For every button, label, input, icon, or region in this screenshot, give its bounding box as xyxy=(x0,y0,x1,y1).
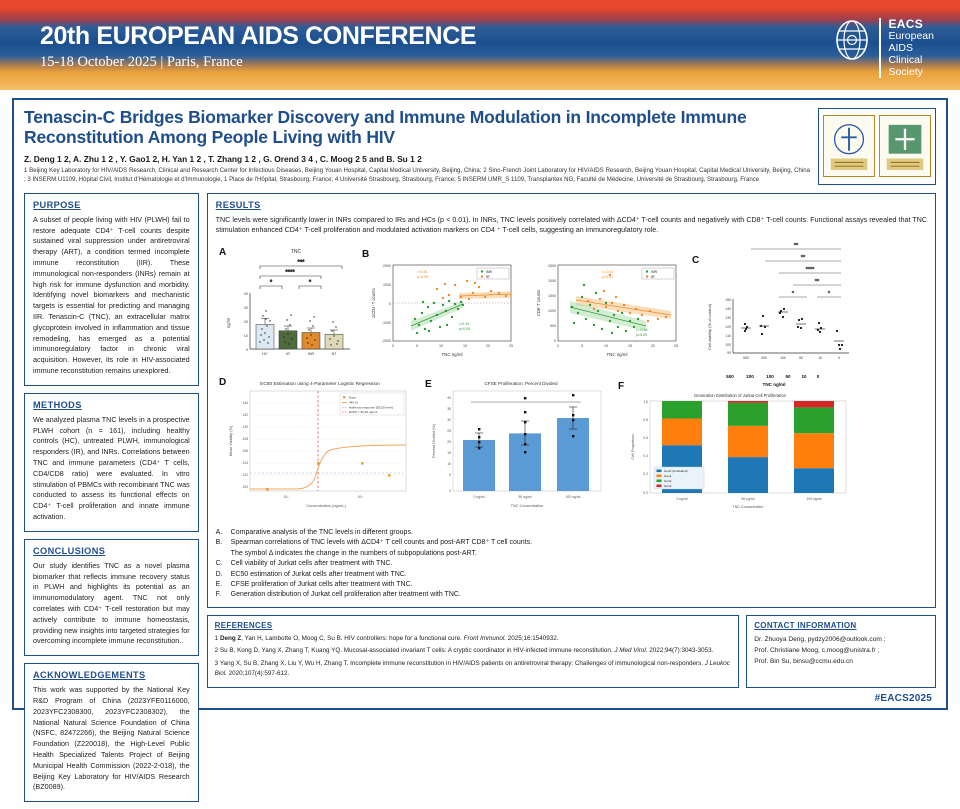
panel-f-bar-100 xyxy=(794,401,834,493)
svg-text:20: 20 xyxy=(243,320,247,324)
panel-c-xticks: 500 200 100 50 10 0 xyxy=(743,356,840,360)
svg-text:124: 124 xyxy=(242,461,248,465)
panel-f-legend: Gen0 (Undivided) Gen1 Gen2 Gen3 xyxy=(654,467,704,489)
svg-text:140: 140 xyxy=(725,307,731,311)
methods-section: METHODS We analyzed plasma TNC levels in… xyxy=(24,393,199,532)
conference-dates-location: 15-18 October 2025 | Paris, France xyxy=(40,54,243,71)
svg-text:110: 110 xyxy=(725,334,731,338)
panel-b-chart: B 20001000 0-1000 -2000 xyxy=(359,241,521,366)
svg-text:20: 20 xyxy=(447,440,451,444)
svg-text:5: 5 xyxy=(416,344,418,348)
figure-caption: A. Comparative analysis of the TNC level… xyxy=(216,528,927,601)
svg-text:EC50 = 46.23 ng/mL: EC50 = 46.23 ng/mL xyxy=(349,410,378,414)
svg-text:p<0.05: p<0.05 xyxy=(459,327,470,331)
svg-text:0 ng/ml: 0 ng/ml xyxy=(473,495,484,499)
panel-d-label: D xyxy=(219,377,226,388)
svg-text:Data: Data xyxy=(349,396,356,400)
acknowledgements-heading: ACKNOWLEDGEMENTS xyxy=(33,670,190,680)
svg-text:1.0: 1.0 xyxy=(643,400,648,404)
panel-f-xticks: 0 ng/ml 50 ng/ml 100 ng/ml xyxy=(676,497,821,501)
svg-text:**: ** xyxy=(815,279,820,285)
results-section: RESULTS TNC levels were significantly lo… xyxy=(207,193,936,608)
svg-text:20: 20 xyxy=(486,344,490,348)
panel-c-significance: ** ** **** ** * xyxy=(751,243,841,297)
panel-f-bar-50 xyxy=(728,401,768,493)
svg-text:50 ng/ml: 50 ng/ml xyxy=(518,495,531,499)
svg-text:2500: 2500 xyxy=(548,264,556,268)
svg-text:Gen1: Gen1 xyxy=(664,474,672,478)
panel-b: B 20001000 0-1000 -2000 xyxy=(359,241,521,371)
svg-text:0: 0 xyxy=(392,344,394,348)
panel-a-title: TNC xyxy=(291,249,302,255)
svg-text:-2000: -2000 xyxy=(381,339,390,343)
svg-text:10: 10 xyxy=(447,462,451,466)
svg-text:40: 40 xyxy=(447,396,451,400)
panel-b-xlabel: TNC ng/ml xyxy=(441,352,462,357)
contact-section: CONTACT INFORMATION Dr. Zhuoya Deng, pyd… xyxy=(746,615,936,688)
contact-line-3[interactable]: Prof. Bin Su, binsu@ccmu.edu.cn xyxy=(754,656,928,667)
svg-text:-1000: -1000 xyxy=(381,321,390,325)
institution-logos xyxy=(818,108,936,185)
svg-text:4PL fit: 4PL fit xyxy=(349,401,358,405)
eacs-word-society: Society xyxy=(888,67,934,79)
svg-text:0: 0 xyxy=(246,348,248,352)
svg-text:134: 134 xyxy=(242,401,248,405)
panel-c-means xyxy=(741,312,844,341)
poster-columns: PURPOSE A subset of people living with H… xyxy=(24,193,936,809)
methods-heading: METHODS xyxy=(33,400,190,410)
capital-medical-university-logo-icon xyxy=(823,115,875,177)
svg-text:Gen3: Gen3 xyxy=(664,484,672,488)
acknowledgements-text: This work was supported by the National … xyxy=(33,685,190,793)
eacs-word-clinical: Clinical xyxy=(888,55,934,67)
figure-row-bottom: D EC50 Estimation using 4-Parameter Logi… xyxy=(216,371,927,524)
svg-text:10: 10 xyxy=(604,344,608,348)
svg-text:500: 500 xyxy=(743,356,749,360)
poster-header: Tenascin-C Bridges Biomarker Discovery a… xyxy=(24,108,936,185)
conference-hashtag: #EACS2025 xyxy=(875,693,932,704)
panel-e-xticks: 0 ng/ml 50 ng/ml 100 ng/ml xyxy=(473,495,580,499)
panel-d-yticks: 134132 130128 126124 122120 xyxy=(242,401,248,489)
svg-text:120: 120 xyxy=(725,325,731,329)
panel-e-chart: E CFSE Proliferation: Percent Divided 40… xyxy=(417,371,607,519)
svg-text:10: 10 xyxy=(801,374,807,379)
panel-c-label: C xyxy=(692,255,699,266)
svg-text:50: 50 xyxy=(785,374,791,379)
poster-title: Tenascin-C Bridges Biomarker Discovery a… xyxy=(24,108,810,147)
panel-e-xlabel: TNC Concentration xyxy=(510,504,543,508)
right-column: RESULTS TNC levels were significantly lo… xyxy=(207,193,936,809)
references-heading: REFERENCES xyxy=(215,621,732,630)
panel-f-chart: F 500200100 50100 TNC ng/ml Generation D… xyxy=(610,371,860,519)
panel-a-xticks: HCIR INRNT xyxy=(262,352,337,356)
svg-text:0.6: 0.6 xyxy=(643,436,648,440)
svg-text:****: **** xyxy=(285,270,295,276)
panel-f: F 500200100 50100 TNC ng/ml Generation D… xyxy=(610,371,860,524)
svg-text:25: 25 xyxy=(447,429,451,433)
caption-item: D. EC50 estimation of Jurkat cells after… xyxy=(216,570,927,580)
svg-text:126: 126 xyxy=(242,449,248,453)
svg-text:p=0.59: p=0.59 xyxy=(417,275,428,279)
caption-item: The symbol Δ indicates the change in the… xyxy=(216,549,927,559)
svg-text:Gen0 (Undivided): Gen0 (Undivided) xyxy=(664,469,688,473)
svg-text:132: 132 xyxy=(242,413,248,417)
panel-f-ylabel: Cell Proportion xyxy=(631,435,635,460)
panel-d-chart: D EC50 Estimation using 4-Parameter Logi… xyxy=(216,371,414,519)
eacs-acronym: EACS xyxy=(888,18,934,31)
panel-e-label: E xyxy=(425,379,432,390)
svg-text:*: * xyxy=(309,280,312,286)
panel-e-title: CFSE Proliferation: Percent Divided xyxy=(484,381,557,386)
svg-text:500: 500 xyxy=(726,374,734,379)
figure-grid: A TNC *** **** * xyxy=(216,241,927,524)
reference-item-2: 2 Su B, Kong D, Yang X, Zhang T, Kuang Y… xyxy=(215,646,732,656)
panel-d-legend: Data 4PL fit Half-max response (EC50 lev… xyxy=(340,393,404,415)
svg-text:10²: 10² xyxy=(357,495,363,499)
contact-heading: CONTACT INFORMATION xyxy=(754,621,928,630)
svg-text:*: * xyxy=(792,291,795,297)
svg-text:0.4: 0.4 xyxy=(643,454,648,458)
svg-text:INR: INR xyxy=(308,352,315,356)
svg-text:0: 0 xyxy=(816,374,819,379)
panel-f-xlabel: TNC Concentration xyxy=(732,505,763,509)
panel-e: E CFSE Proliferation: Percent Divided 40… xyxy=(417,371,607,524)
conference-title: 20th EUROPEAN AIDS CONFERENCE xyxy=(40,22,476,51)
panel-f-yticks: 1.00.8 0.60.4 0.20.0 xyxy=(643,400,648,495)
purpose-heading: PURPOSE xyxy=(33,200,190,210)
svg-text:1500: 1500 xyxy=(548,294,556,298)
panel-b2-xticks: 0510 152025 xyxy=(557,344,678,348)
purpose-section: PURPOSE A subset of people living with H… xyxy=(24,193,199,386)
svg-text:25: 25 xyxy=(509,344,513,348)
panel-a-chart: A TNC *** **** * xyxy=(216,241,356,366)
svg-text:100: 100 xyxy=(780,356,786,360)
svg-text:130: 130 xyxy=(725,316,731,320)
svg-text:0: 0 xyxy=(554,339,556,343)
panel-b-cd8: 25002000 15001000 5000 0510 152025 TNC n… xyxy=(524,241,686,371)
svg-text:30: 30 xyxy=(243,306,247,310)
svg-text:15: 15 xyxy=(628,344,632,348)
panel-f-top-labels: 500200100 50100 TNC ng/ml xyxy=(726,374,820,387)
svg-text:0.8: 0.8 xyxy=(643,418,648,422)
svg-text:128: 128 xyxy=(242,437,248,441)
svg-text:120: 120 xyxy=(242,485,248,489)
panel-b2-legend: INR IR xyxy=(642,268,674,279)
panel-b2-chart: 25002000 15001000 5000 0510 152025 TNC n… xyxy=(524,241,686,366)
svg-text:r=-0.34: r=-0.34 xyxy=(636,328,648,332)
svg-text:0: 0 xyxy=(449,489,451,493)
svg-text:50 ng/ml: 50 ng/ml xyxy=(741,497,754,501)
svg-text:122: 122 xyxy=(242,473,248,477)
poster-body: Tenascin-C Bridges Biomarker Discovery a… xyxy=(12,98,948,710)
panel-d-ylabel: Mean Viability (%) xyxy=(229,425,233,456)
svg-text:NT: NT xyxy=(331,352,337,356)
reference-item-1: 1 Deng Z, Yan H, Lambotte O, Moog C, Su … xyxy=(215,634,732,644)
svg-text:1000: 1000 xyxy=(383,283,391,287)
svg-text:90: 90 xyxy=(727,351,731,355)
svg-text:200: 200 xyxy=(761,356,767,360)
svg-text:p<0.05: p<0.05 xyxy=(636,333,647,337)
panel-f-label: F xyxy=(618,381,624,392)
svg-text:5: 5 xyxy=(449,473,451,477)
svg-text:25: 25 xyxy=(674,344,678,348)
svg-text:*: * xyxy=(270,280,273,286)
svg-text:10: 10 xyxy=(243,334,247,338)
bottom-row: REFERENCES 1 Deng Z, Yan H, Lambotte O, … xyxy=(207,615,936,688)
panel-b2-ylabel: CD8⁺T counts xyxy=(536,290,541,317)
svg-text:10¹: 10¹ xyxy=(283,495,289,499)
svg-text:Half-max response (EC50 level): Half-max response (EC50 level) xyxy=(349,406,393,410)
panel-d: D EC50 Estimation using 4-Parameter Logi… xyxy=(216,371,414,524)
reference-item-3: 3 Yang X, Su B, Zhang X, Liu Y, Wu H, Zh… xyxy=(215,659,732,679)
affiliations: 1 Beijing Key Laboratory for HIV/AIDS Re… xyxy=(24,167,810,185)
svg-text:Gen2: Gen2 xyxy=(664,479,672,483)
panel-a-significance: *** **** * * xyxy=(260,260,342,289)
svg-text:IR: IR xyxy=(286,352,290,356)
panel-e-yticks: 4035 3025 2015 105 0 xyxy=(447,396,451,493)
svg-text:r=0.34: r=0.34 xyxy=(459,322,469,326)
results-text: TNC levels were significantly lower in I… xyxy=(216,215,927,236)
panel-f-title: Generation Distribution of Jurkat Cell P… xyxy=(694,393,787,398)
contact-line-2[interactable]: Prof. Christiane Moog, c.moog@unistra.fr… xyxy=(754,645,928,656)
results-heading: RESULTS xyxy=(216,200,927,210)
svg-text:p<0.01: p<0.01 xyxy=(602,275,613,279)
svg-text:INR: INR xyxy=(486,270,493,274)
svg-text:40: 40 xyxy=(243,292,247,296)
panel-b-legend: INR IR xyxy=(477,268,509,279)
panel-c-ylabel: Cell viability (% of control) xyxy=(707,303,712,350)
svg-text:1000: 1000 xyxy=(548,309,556,313)
caption-item: B. Spearman correlations of TNC levels w… xyxy=(216,538,927,548)
svg-text:50: 50 xyxy=(799,356,803,360)
conclusions-text: Our study identifies TNC as a novel plas… xyxy=(33,561,190,647)
contact-line-1[interactable]: Dr. Zhuoya Deng, pydzy2006@outlook.com ; xyxy=(754,634,928,645)
purpose-text: A subset of people living with HIV (PLWH… xyxy=(33,215,190,377)
panel-c: C ** ** **** ** xyxy=(689,241,861,371)
svg-text:100: 100 xyxy=(725,343,731,347)
svg-text:***: *** xyxy=(297,260,305,266)
conclusions-heading: CONCLUSIONS xyxy=(33,546,190,556)
references-section: REFERENCES 1 Deng Z, Yan H, Lambotte O, … xyxy=(207,615,740,688)
svg-text:30: 30 xyxy=(447,418,451,422)
svg-text:100 ng/ml: 100 ng/ml xyxy=(806,497,821,501)
svg-text:0.2: 0.2 xyxy=(643,472,648,476)
panel-d-xticks: 10¹ 10² xyxy=(283,495,363,499)
panel-b-ylabel: ΔCD4⁺T counts xyxy=(371,288,376,317)
panel-a-ylabel: ng/ml xyxy=(226,318,231,328)
panel-c-chart: C ** ** **** ** xyxy=(689,241,861,366)
caption-item: A. Comparative analysis of the TNC level… xyxy=(216,528,927,538)
svg-text:0.0: 0.0 xyxy=(643,491,648,495)
svg-text:0: 0 xyxy=(557,344,559,348)
panel-e-ylabel: Percent Divided (%) xyxy=(432,424,436,458)
svg-text:100 ng/ml: 100 ng/ml xyxy=(565,495,580,499)
svg-text:**: ** xyxy=(801,255,806,261)
svg-text:HC: HC xyxy=(262,352,268,356)
left-column: PURPOSE A subset of people living with H… xyxy=(24,193,199,809)
eacs-logo: EACS European AIDS Clinical Society xyxy=(832,18,934,78)
panel-b-label: B xyxy=(362,249,369,260)
svg-text:IR: IR xyxy=(486,275,490,279)
svg-text:15: 15 xyxy=(463,344,467,348)
panel-b2-xlabel: TNC ng/ml xyxy=(606,352,627,357)
acknowledgements-section: ACKNOWLEDGEMENTS This work was supported… xyxy=(24,663,199,802)
svg-text:10: 10 xyxy=(439,344,443,348)
author-list: Z. Deng 1 2, A. Zhu 1 2 , Y. Gao1 2, H. … xyxy=(24,154,810,164)
panel-a-label: A xyxy=(219,247,226,258)
svg-text:15: 15 xyxy=(447,451,451,455)
panel-a-yticks: 010 2030 40 xyxy=(243,292,247,352)
svg-text:2000: 2000 xyxy=(548,279,556,283)
caption-item: C. Cell viability of Jurkat cells after … xyxy=(216,559,927,569)
svg-text:TNC ng/ml: TNC ng/ml xyxy=(762,382,785,387)
conclusions-section: CONCLUSIONS Our study identifies TNC as … xyxy=(24,539,199,656)
svg-text:**: ** xyxy=(794,243,799,249)
panel-b-yticks: 20001000 0-1000 -2000 xyxy=(381,264,390,343)
svg-text:500: 500 xyxy=(550,324,556,328)
svg-text:10: 10 xyxy=(818,356,822,360)
methods-text: We analyzed plasma TNC levels in a prosp… xyxy=(33,415,190,523)
svg-text:IR: IR xyxy=(651,275,655,279)
panel-d-title: EC50 Estimation using 4-Parameter Logist… xyxy=(260,381,380,387)
caption-item: F. Generation distribution of Jurkat cel… xyxy=(216,590,927,600)
panel-b2-yticks: 25002000 15001000 5000 xyxy=(548,264,556,343)
panel-c-yticks: 150140 130120 110100 90 xyxy=(725,298,731,355)
svg-text:****: **** xyxy=(805,267,814,273)
panel-c-points xyxy=(744,308,843,350)
svg-text:100: 100 xyxy=(766,374,774,379)
beijing-youan-hospital-logo-icon xyxy=(879,115,931,177)
caption-item: E. CFSE proliferation of Jurkat cells af… xyxy=(216,580,927,590)
svg-text:0 ng/ml: 0 ng/ml xyxy=(676,497,687,501)
svg-text:0: 0 xyxy=(838,356,840,360)
figure-row-top: A TNC *** **** * xyxy=(216,241,927,371)
svg-text:200: 200 xyxy=(746,374,754,379)
svg-text:0: 0 xyxy=(389,302,391,306)
svg-text:5: 5 xyxy=(581,344,583,348)
svg-text:2000: 2000 xyxy=(383,264,391,268)
svg-text:*: * xyxy=(828,291,831,297)
eacs-emblem-icon xyxy=(832,18,872,62)
svg-text:r=-0.42: r=-0.42 xyxy=(602,270,614,274)
panel-a: A TNC *** **** * xyxy=(216,241,356,371)
svg-text:20: 20 xyxy=(651,344,655,348)
panel-d-xlabel: Concentration (ng/mL) xyxy=(306,503,346,508)
svg-text:INR: INR xyxy=(651,270,658,274)
svg-text:r=0.06: r=0.06 xyxy=(417,270,427,274)
svg-text:35: 35 xyxy=(447,407,451,411)
svg-text:150: 150 xyxy=(725,298,731,302)
conference-banner: 20th EUROPEAN AIDS CONFERENCE 15-18 Octo… xyxy=(0,0,960,90)
svg-text:130: 130 xyxy=(242,425,248,429)
panel-b-xticks: 0510 152025 xyxy=(392,344,513,348)
